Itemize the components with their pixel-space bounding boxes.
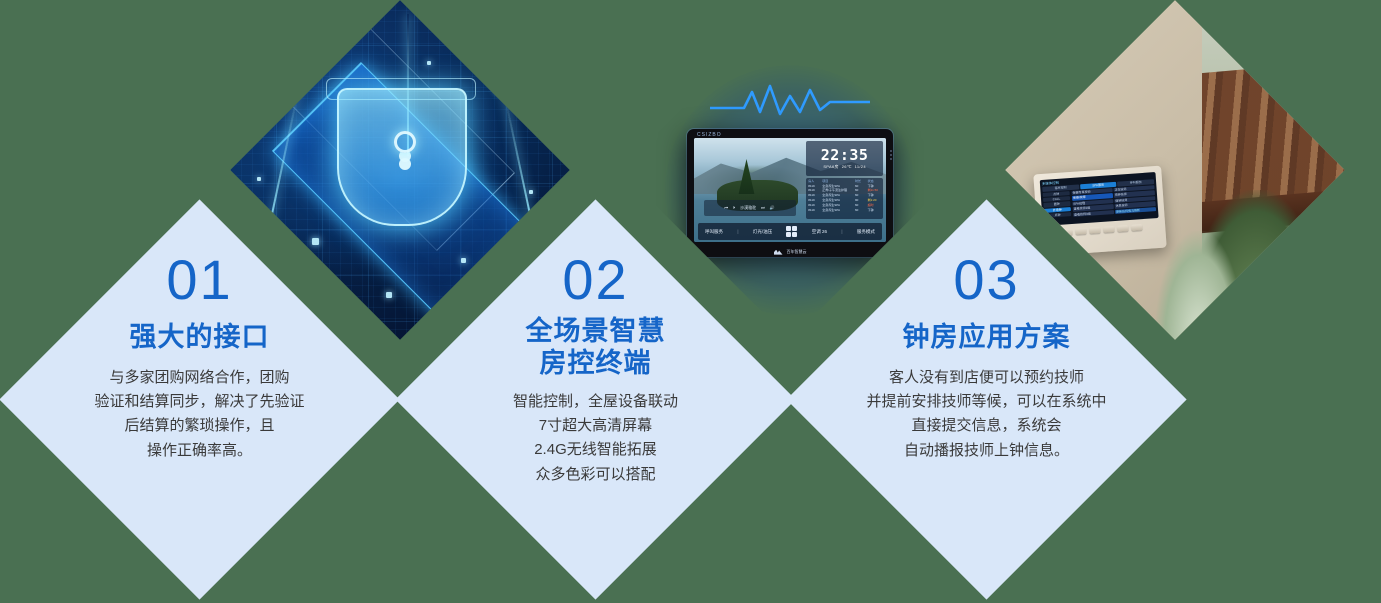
card-3-number: 03 [953, 252, 1019, 308]
side-button-dian2[interactable]: 点钟 [1044, 212, 1071, 218]
dock-separator: | [737, 229, 738, 234]
wall-control-panel[interactable]: 多媒体控制 客房控制 SPA服务 呼叫服务 点钟 CALL 圈钟 外场钟 点钟 [1033, 166, 1166, 257]
clock-temp: 26℃ [842, 165, 852, 169]
desc-line: 智能控制，全屋设备联动 [513, 389, 678, 413]
feature-diamond-board: CSIZBO 22:35 SPA6房 26℃ 11/24 [0, 0, 1381, 603]
potted-plant [1155, 231, 1243, 340]
dock-item-light[interactable]: 灯光/油压 [753, 229, 772, 235]
card-2-description: 智能控制，全屋设备联动 7寸超大高清屏幕 2.4G无线智能拓展 众多色彩可以搭配 [513, 389, 678, 486]
desc-line: 并提前安排技师等候，可以在系统中 [866, 390, 1106, 414]
player-track-label: 沙漠骆驼 [740, 205, 756, 211]
col-head-item: 项目 [822, 180, 853, 184]
clock-room: SPA6房 [823, 165, 838, 169]
tablet-side-keys[interactable] [890, 150, 892, 160]
clock-widget: 22:35 SPA6房 26℃ 11/24 [806, 141, 883, 175]
card-3-description: 客人没有到店便可以预约技师 并提前安排技师等候，可以在系统中 直接提交信息，系统… [866, 365, 1106, 462]
grid-four-icon[interactable] [786, 226, 797, 237]
desc-line: 与多家团购网络合作，团购 [94, 365, 304, 389]
clock-meta: SPA6房 26℃ 11/24 [823, 165, 866, 169]
panel-hardware-keys[interactable] [1043, 223, 1159, 237]
panel-side-buttons[interactable]: 点钟 CALL 圈钟 外场钟 点钟 [1042, 191, 1071, 224]
clock-date: 11/24 [855, 165, 866, 169]
next-track-icon[interactable]: ⏭ [761, 205, 765, 210]
col-head-duration: 时长 [855, 180, 866, 184]
room-control-tablet[interactable]: CSIZBO 22:35 SPA6房 26℃ 11/24 [687, 129, 893, 257]
card-1-title: 强大的接口 [130, 322, 270, 354]
col-head-status: 状态 [868, 180, 881, 184]
brand-logo-icon [774, 250, 783, 255]
previous-track-icon[interactable]: ⏮ [725, 205, 729, 210]
desc-line: 7寸超大高清屏幕 [513, 414, 678, 438]
card-2-title: 全场景智慧 房控终端 [526, 316, 666, 380]
panel-list-column-1[interactable]: 保健专享技师 保健/按摩 SPA经理 查看技师2组 查看技师3组 [1071, 188, 1114, 222]
dock-item-service-mode[interactable]: 服务模式 [857, 229, 875, 235]
desc-line: 自动播报技师上钟信息。 [866, 438, 1106, 462]
dock-item-aircon[interactable]: 空调 26 [812, 229, 827, 235]
desc-line: 后结算的繁琐操作，且 [94, 414, 304, 438]
desc-line: 验证和结算同步，解决了先验证 [94, 390, 304, 414]
service-list[interactable]: 房人 项目 时长 状态 8119 全身养生SPA 60 下钟 8119 [806, 178, 883, 220]
heartbeat-pulse-icon [710, 82, 870, 120]
tablet-dock[interactable]: 呼叫服务 | 灯光/油压 空调 26 | 服务模式 [698, 223, 882, 240]
desc-line: 2.4G无线智能拓展 [513, 438, 678, 462]
dock-separator: | [841, 229, 842, 234]
dock-item-call-service[interactable]: 呼叫服务 [705, 229, 723, 235]
panel-list-column-2[interactable]: 正在技师 排钟技师 值钟技师 休息技师 更新技师情况刷新 [1113, 185, 1156, 219]
panel-screen[interactable]: 多媒体控制 客房控制 SPA服务 呼叫服务 点钟 CALL 圈钟 外场钟 点钟 [1039, 172, 1158, 226]
play-icon[interactable]: ⏵ [733, 205, 735, 210]
list-row[interactable]: 8119 全身养生SPA 60 下钟 [808, 209, 881, 213]
desc-line: 客人没有到店便可以预约技师 [866, 365, 1106, 389]
tablet-footer-brand: 百年智慧云 [687, 249, 893, 255]
volume-icon[interactable]: 🔊 [770, 205, 775, 210]
brand-name: 百年智慧云 [787, 249, 807, 255]
panel-lists[interactable]: 保健专享技师 保健/按摩 SPA经理 查看技师2组 查看技师3组 正在技师 排钟… [1071, 185, 1156, 222]
music-player-bar[interactable]: ⏮ ⏵ 沙漠骆驼 ⏭ 🔊 [704, 200, 796, 217]
desc-line: 操作正确率高。 [94, 438, 304, 462]
clock-time: 22:35 [821, 148, 869, 163]
tablet-screen[interactable]: 22:35 SPA6房 26℃ 11/24 房人 项目 时长 状态 [694, 138, 886, 242]
card-1-description: 与多家团购网络合作，团购 验证和结算同步，解决了先验证 后结算的繁琐操作，且 操… [94, 365, 304, 462]
card-3-title: 钟房应用方案 [903, 322, 1071, 354]
desc-line: 众多色彩可以搭配 [513, 462, 678, 486]
panel-body: 点钟 CALL 圈钟 外场钟 点钟 保健专享技师 保健/按摩 SPA经理 查看 [1042, 185, 1156, 224]
card-1-number: 01 [166, 252, 232, 308]
card-2-number: 02 [562, 252, 628, 308]
list-header: 房人 项目 时长 状态 [808, 180, 881, 184]
desc-line: 直接提交信息，系统会 [866, 414, 1106, 438]
col-head-room: 房人 [808, 180, 820, 184]
